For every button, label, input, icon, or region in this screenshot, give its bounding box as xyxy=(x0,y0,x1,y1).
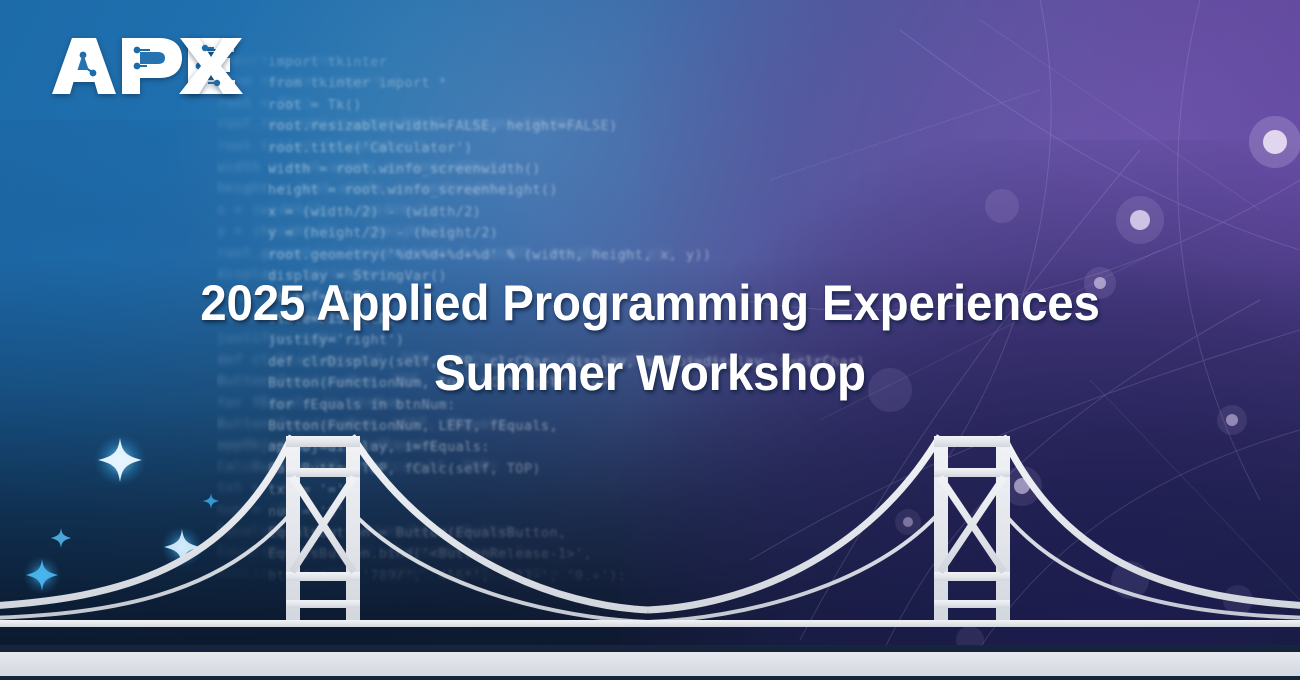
roadway-deck xyxy=(0,652,1300,677)
workshop-banner: import tkinterfrom tkinter import *root … xyxy=(0,0,1300,680)
title-line-2: Summer Workshop xyxy=(33,338,1268,408)
apex-logo-x xyxy=(178,36,248,98)
title-line-1: 2025 Applied Programming Experiences xyxy=(33,268,1268,338)
roadway-bottom-edge xyxy=(0,676,1300,680)
bridge-tower-left xyxy=(286,436,360,626)
banner-title: 2025 Applied Programming Experiences Sum… xyxy=(33,268,1268,408)
suspension-bridge-graphic xyxy=(0,420,1300,680)
bridge-tower-right xyxy=(934,436,1010,626)
